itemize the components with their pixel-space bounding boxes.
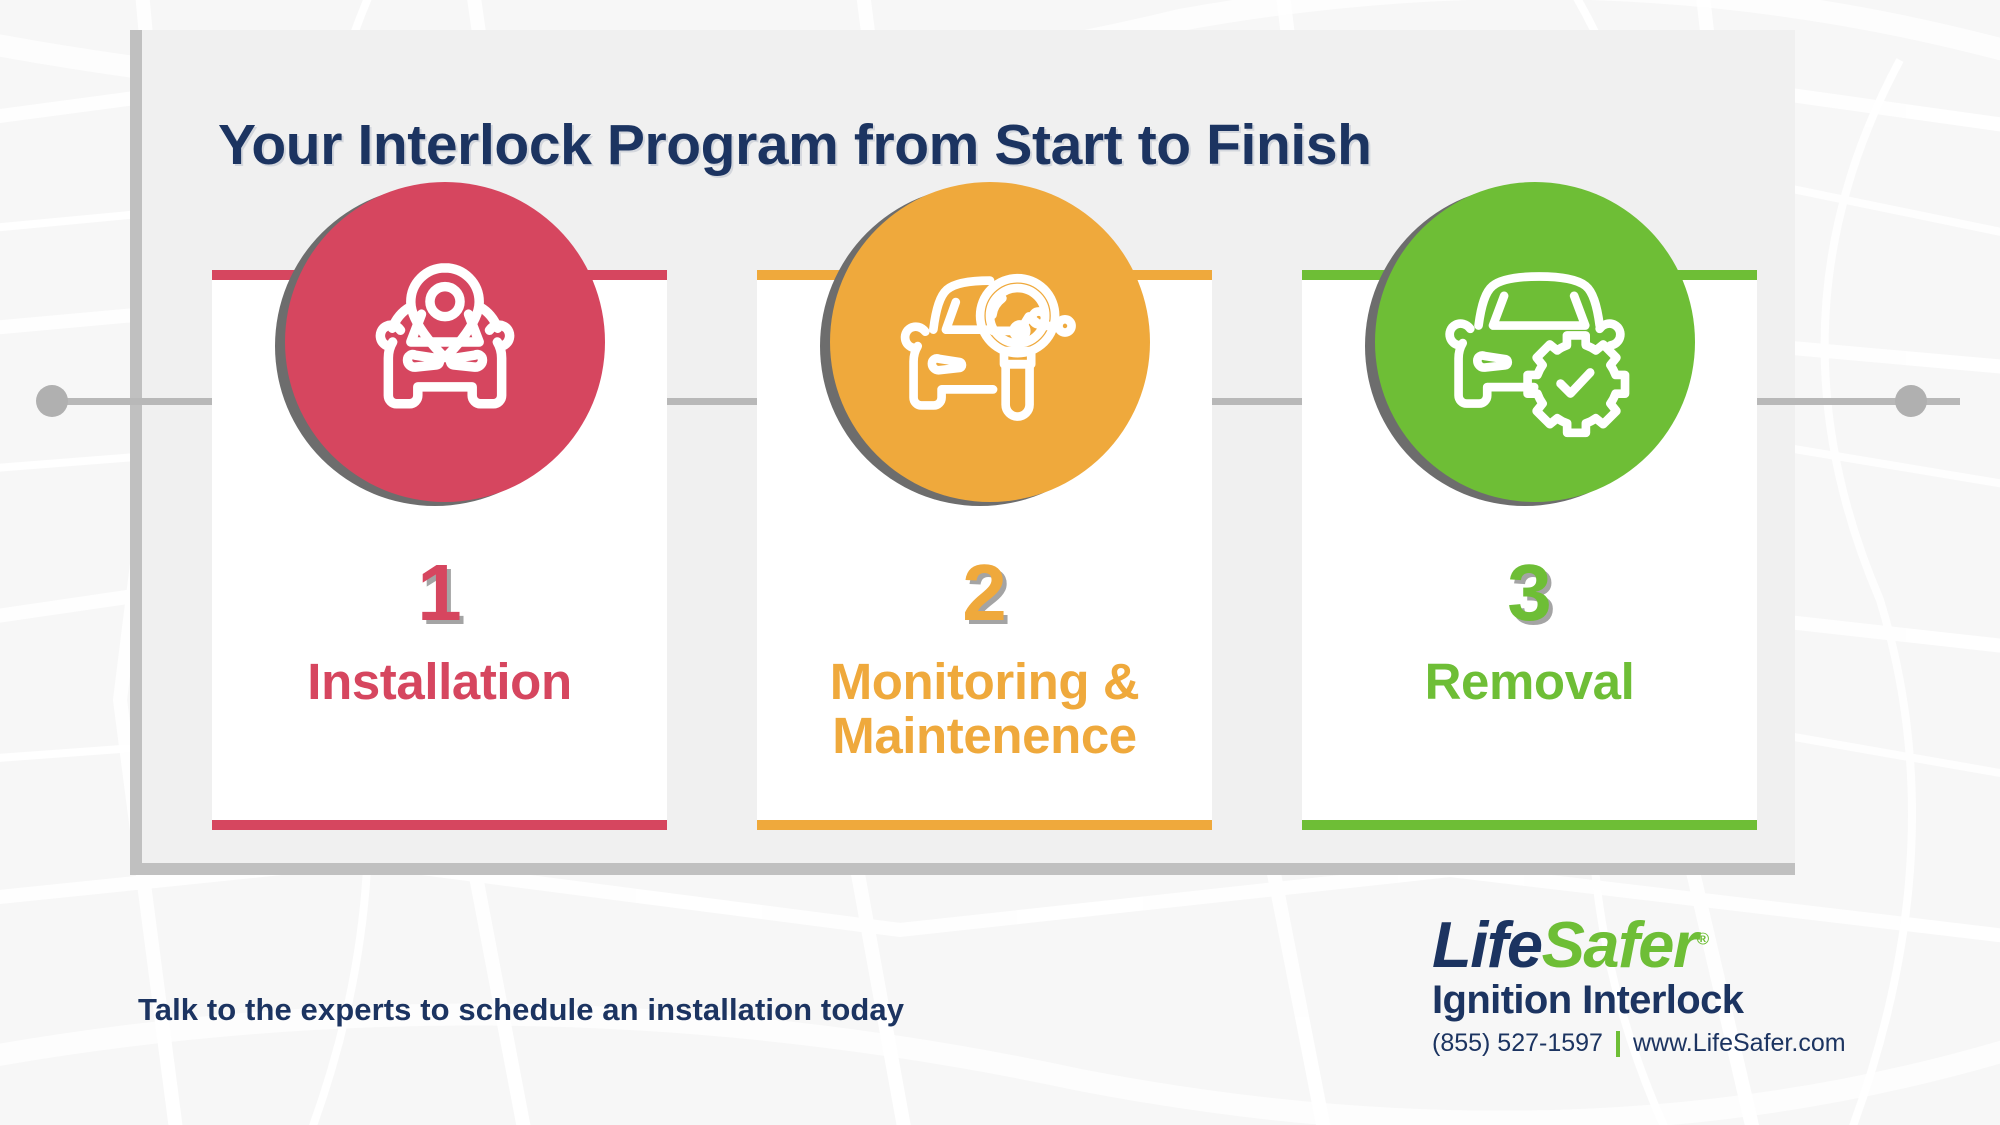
step-label-2-line1: Monitoring & [757, 655, 1212, 709]
divider-icon [1616, 1031, 1620, 1057]
logo-word-life: Life [1432, 908, 1542, 981]
logo-subtitle: Ignition Interlock [1432, 979, 1852, 1021]
step-card-2[interactable]: 2 Monitoring & Maintenence [757, 270, 1212, 830]
step-label-3: Removal [1302, 655, 1757, 709]
step-card-3-badge [1365, 182, 1695, 512]
cta-text: Talk to the experts to schedule an insta… [138, 992, 904, 1028]
step-card-1-bottom-accent [212, 820, 667, 830]
step-card-1-badge [275, 182, 605, 512]
logo-wordmark: LifeSafer® [1432, 912, 1852, 977]
step-card-3-bottom-accent [1302, 820, 1757, 830]
infographic-canvas: Your Interlock Program from Start to Fin… [0, 0, 2000, 1125]
logo-contact-line: (855) 527-1597 www.LifeSafer.com [1432, 1029, 1852, 1058]
steps-row: 1 Installation [212, 270, 1757, 830]
bracket-vertical-bar [130, 30, 142, 875]
step-label-1-line1: Installation [212, 655, 667, 709]
step-label-3-line1: Removal [1302, 655, 1757, 709]
lifesafer-logo[interactable]: LifeSafer® Ignition Interlock (855) 527-… [1432, 912, 1852, 1058]
registered-trademark-icon: ® [1697, 929, 1708, 948]
car-location-pin-icon [342, 239, 548, 445]
page-title: Your Interlock Program from Start to Fin… [218, 112, 1372, 178]
step-number-2: 2 [757, 553, 1212, 633]
car-magnifier-icon [887, 239, 1093, 445]
step-label-2-line2: Maintenence [757, 709, 1212, 763]
step-label-1: Installation [212, 655, 667, 709]
step-number-1: 1 [212, 553, 667, 633]
step-card-3[interactable]: 3 Removal [1302, 270, 1757, 830]
badge-circle-3 [1375, 182, 1695, 502]
step-label-2: Monitoring & Maintenence [757, 655, 1212, 763]
logo-word-safer: Safer [1542, 908, 1697, 981]
phone-number[interactable]: (855) 527-1597 [1432, 1029, 1603, 1058]
step-card-2-bottom-accent [757, 820, 1212, 830]
badge-circle-1 [285, 182, 605, 502]
step-card-2-badge [820, 182, 1150, 512]
badge-circle-2 [830, 182, 1150, 502]
bracket-horizontal-bar [130, 863, 1795, 875]
website-url[interactable]: www.LifeSafer.com [1633, 1029, 1846, 1058]
step-number-3: 3 [1302, 553, 1757, 633]
timeline-dot-left [36, 385, 68, 417]
step-card-1[interactable]: 1 Installation [212, 270, 667, 830]
timeline-dot-right [1895, 385, 1927, 417]
car-gear-check-icon [1432, 239, 1638, 445]
